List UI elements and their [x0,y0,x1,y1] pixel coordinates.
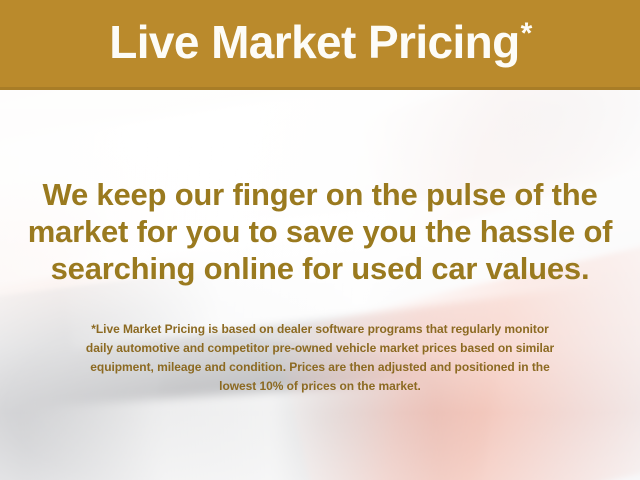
disclaimer-line-2: daily automotive and competitor pre-owne… [24,339,616,358]
headline-line-3: searching online for used car values. [24,250,616,287]
disclaimer-text: *Live Market Pricing is based on dealer … [24,320,616,396]
header-banner: Live Market Pricing* [0,0,640,90]
slide-content: We keep our finger on the pulse of the m… [0,90,640,480]
headline-line-1: We keep our finger on the pulse of the [24,176,616,213]
page-title-text: Live Market Pricing [109,16,519,68]
disclaimer-line-3: equipment, mileage and condition. Prices… [24,358,616,377]
live-market-pricing-slide: Live Market Pricing* We keep our finger … [0,0,640,480]
page-title-asterisk: * [521,17,532,50]
headline-text: We keep our finger on the pulse of the m… [24,176,616,287]
page-title: Live Market Pricing* [109,19,531,65]
disclaimer-line-1: *Live Market Pricing is based on dealer … [24,320,616,339]
headline-line-2: market for you to save you the hassle of [24,213,616,250]
disclaimer-line-4: lowest 10% of prices on the market. [24,377,616,396]
